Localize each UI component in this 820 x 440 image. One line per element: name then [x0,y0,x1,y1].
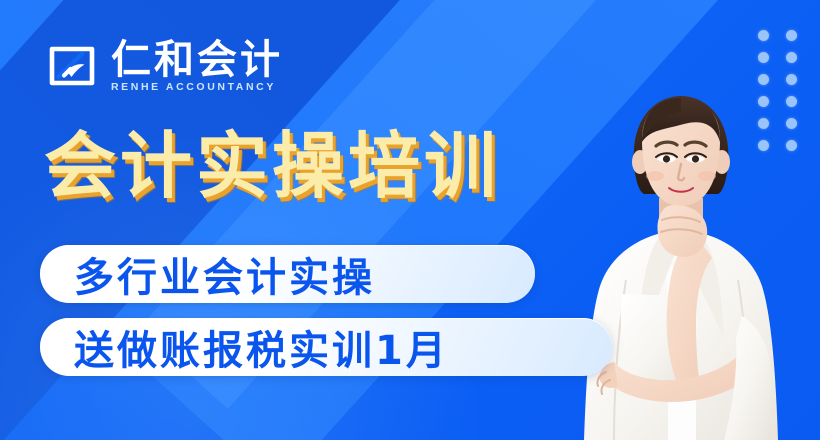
decor-dot [758,30,769,41]
brand-wordmark: 仁和会计 RENHE ACCOUNTANCY [111,40,283,93]
decor-dot [786,30,797,41]
promotional-banner: 仁和会计 RENHE ACCOUNTANCY 会计实操培训 多行业会计实操 送做… [0,0,820,440]
feature-pill-2-label: 送做账报税实训1月 [74,318,449,376]
feature-pill-1: 多行业会计实操 [40,245,535,303]
feature-pill-1-label: 多行业会计实操 [74,245,375,303]
feature-pill-2: 送做账报税实训1月 [40,318,612,376]
decor-dot [786,52,797,63]
headline-title: 会计实操培训 [44,130,500,202]
brand-logo: 仁和会计 RENHE ACCOUNTANCY [46,40,283,93]
renhe-square-swoosh-logo-icon [46,40,98,92]
brand-name-cn: 仁和会计 [111,40,283,80]
decor-dot [758,52,769,63]
brand-name-en: RENHE ACCOUNTANCY [111,82,283,93]
presenter-figure [556,80,806,440]
